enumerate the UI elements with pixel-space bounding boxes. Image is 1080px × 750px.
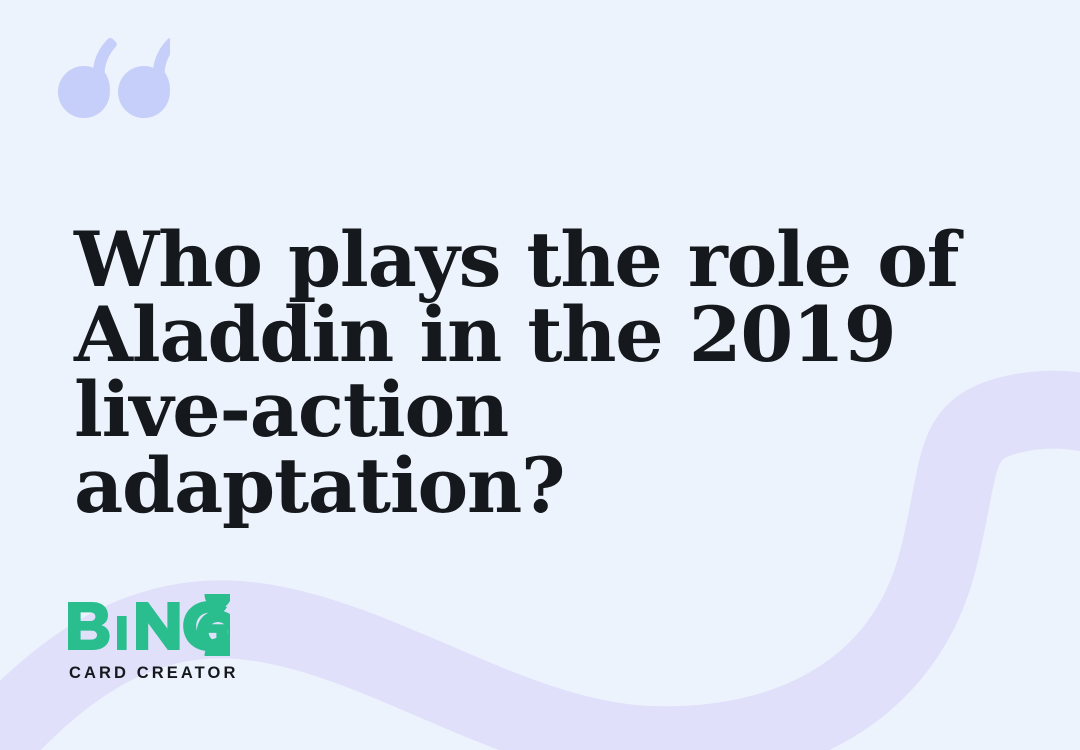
bingo-wordmark-icon [66, 594, 230, 656]
quiz-question-card: Who plays the role of Aladdin in the 201… [0, 0, 1080, 750]
bingo-card-creator-logo: CARD CREATOR [66, 594, 239, 683]
question-text: Who plays the role of Aladdin in the 201… [74, 222, 1004, 523]
logo-tagline: CARD CREATOR [69, 664, 239, 683]
double-quote-open-icon [58, 38, 170, 118]
